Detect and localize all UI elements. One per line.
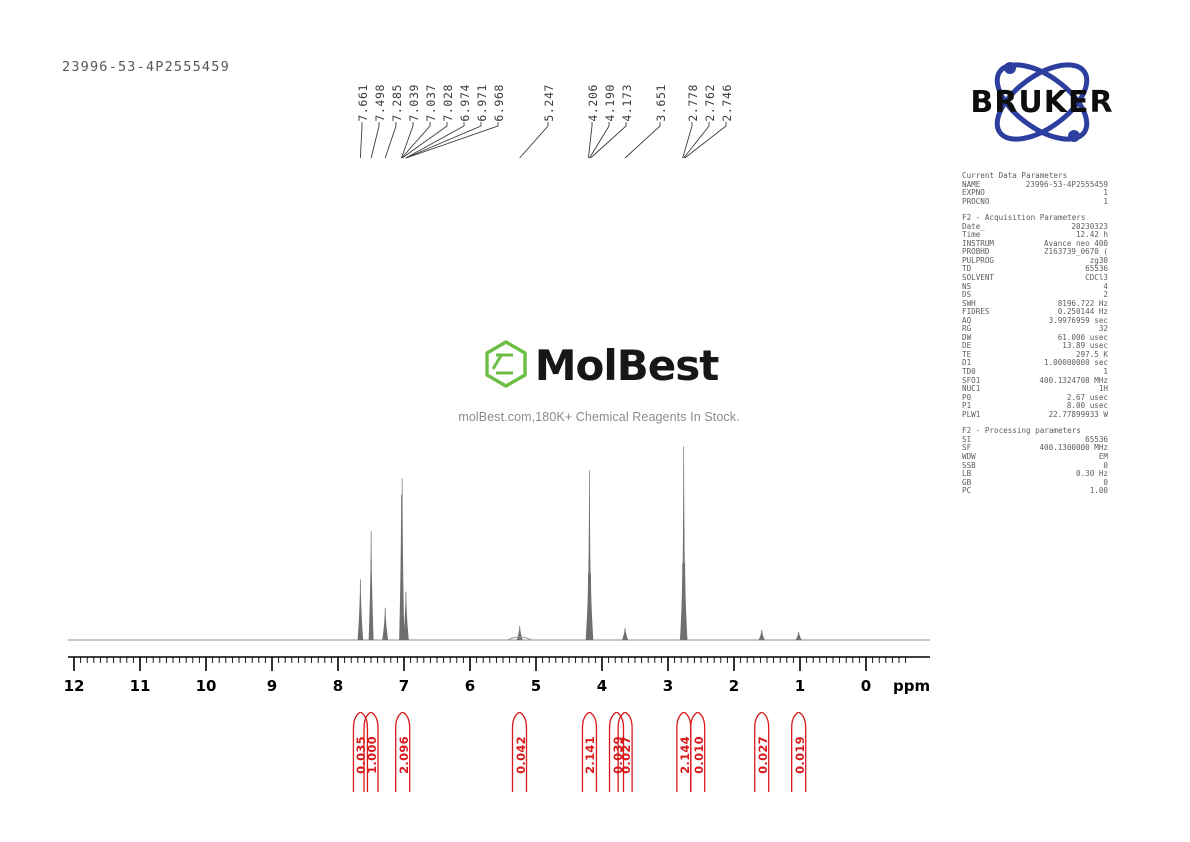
peak-label: 7.498 xyxy=(373,84,387,122)
integral-value: 0.019 xyxy=(793,736,807,774)
peak-label: 7.661 xyxy=(356,84,370,122)
watermark-tagline: molBest.com,180K+ Chemical Reagents In S… xyxy=(444,410,754,424)
svg-text:BRUKER: BRUKER xyxy=(970,85,1113,120)
param-row: D11.00000000 sec xyxy=(962,359,1122,368)
axis-unit-label: ppm xyxy=(893,677,930,695)
peak-label: 7.028 xyxy=(441,84,455,122)
peak-label: 6.971 xyxy=(475,84,489,122)
param-row: AQ3.9976959 sec xyxy=(962,317,1122,326)
param-value: 400.1324708 MHz xyxy=(1016,377,1108,386)
param-row: NAME23996-53-4P2555459 xyxy=(962,181,1122,190)
axis-tick-label: 2 xyxy=(729,677,739,695)
param-value: 22.77899933 W xyxy=(1016,411,1108,420)
peak-label: 7.037 xyxy=(424,84,438,122)
axis-tick-label: 3 xyxy=(663,677,673,695)
integral-value: 0.027 xyxy=(619,736,633,774)
peak-label: 6.974 xyxy=(458,84,472,122)
bruker-logo: BRUKER xyxy=(962,52,1122,152)
param-value: CDCl3 xyxy=(1016,274,1108,283)
axis-tick-label: 8 xyxy=(333,677,343,695)
integral-value: 2.144 xyxy=(678,736,692,774)
peak-label: 3.651 xyxy=(654,84,668,122)
axis-tick-label: 1 xyxy=(795,677,805,695)
peak-label: 7.039 xyxy=(407,84,421,122)
integral-value: 0.027 xyxy=(756,736,770,774)
watermark-brand: MolBest xyxy=(535,345,719,387)
peak-label: 2.762 xyxy=(703,84,717,122)
hexagon-ring-icon xyxy=(480,338,532,394)
axis-tick-label: 6 xyxy=(465,677,475,695)
axis-tick-label: 11 xyxy=(130,677,151,695)
nmr-spectrum-sheet: 23996-53-4P2555459 7.6617.4987.2857.0397… xyxy=(0,0,1190,842)
param-row: SOLVENTCDCl3 xyxy=(962,274,1122,283)
molbest-watermark: MolBest molBest.com,180K+ Chemical Reage… xyxy=(444,338,754,424)
ppm-axis: ppm 1211109876543210 xyxy=(0,655,1190,710)
peak-label: 4.206 xyxy=(586,84,600,122)
param-value: 4 xyxy=(1016,283,1108,292)
axis-tick-label: 10 xyxy=(196,677,217,695)
peak-label: 2.746 xyxy=(720,84,734,122)
peak-label: 2.778 xyxy=(686,84,700,122)
integral-value: 1.000 xyxy=(365,736,379,774)
peak-label: 6.968 xyxy=(492,84,506,122)
axis-tick-label: 7 xyxy=(399,677,409,695)
peak-label: 5.247 xyxy=(542,84,556,122)
param-value: 1 xyxy=(1016,198,1108,207)
spectrum-trace xyxy=(0,430,1190,655)
param-value: 1.00000000 sec xyxy=(1016,359,1108,368)
integral-group: 0.0351.0002.0960.0422.1410.0390.0272.144… xyxy=(0,712,1190,807)
integral-value: 0.042 xyxy=(514,736,528,774)
param-row: NS4 xyxy=(962,283,1122,292)
axis-tick-label: 5 xyxy=(531,677,541,695)
axis-tick-label: 9 xyxy=(267,677,277,695)
integral-value: 0.010 xyxy=(692,736,706,774)
axis-tick-label: 12 xyxy=(64,677,85,695)
param-value: 3.9976959 sec xyxy=(1016,317,1108,326)
integral-value: 2.141 xyxy=(583,736,597,774)
peak-label: 4.190 xyxy=(603,84,617,122)
axis-tick-label: 0 xyxy=(861,677,871,695)
peak-label: 4.173 xyxy=(620,84,634,122)
axis-tick-label: 4 xyxy=(597,677,607,695)
param-row: PROCNO1 xyxy=(962,198,1122,207)
param-value: 23996-53-4P2555459 xyxy=(1016,181,1108,190)
param-key: PLW1 xyxy=(962,411,1016,420)
peak-label: 7.285 xyxy=(390,84,404,122)
param-row: PLW122.77899933 W xyxy=(962,411,1122,420)
integral-value: 2.096 xyxy=(397,736,411,774)
param-row: SFO1400.1324708 MHz xyxy=(962,377,1122,386)
param-key: PROCNO xyxy=(962,198,1016,207)
axis-ruler xyxy=(0,655,1190,679)
param-value: 1 xyxy=(1016,189,1108,198)
